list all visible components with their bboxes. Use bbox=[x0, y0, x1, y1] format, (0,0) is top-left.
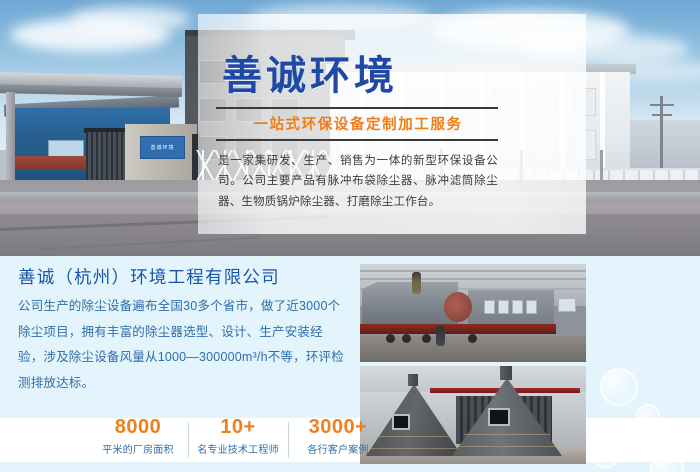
access-panel bbox=[498, 300, 509, 314]
inspection-hatch bbox=[488, 408, 510, 426]
hero-title: 善诚环境 bbox=[222, 54, 580, 99]
utility-pole-arm bbox=[652, 114, 672, 116]
hero-subtitle-block: 一站式环保设备定制加工服务 bbox=[216, 107, 498, 141]
access-panel bbox=[512, 300, 523, 314]
company-description: 公司生产的除尘设备遍布全国30多个省市，做了近3000个除尘项目，拥有丰富的除尘… bbox=[18, 294, 348, 397]
trailer-wheel bbox=[468, 334, 477, 343]
pyramid-hopper-right bbox=[452, 378, 562, 456]
weld-seam bbox=[456, 446, 558, 447]
promo-banner: 善诚环境 善诚环境 一站式环保设备定制加工服务 bbox=[0, 0, 700, 472]
factory-sign: 善诚环境 bbox=[140, 136, 185, 159]
utility-pole bbox=[660, 96, 663, 176]
truck-trailer-bed bbox=[360, 324, 556, 334]
stat-item-factory-area: 8000 平米的厂房面积 bbox=[88, 416, 188, 464]
hero-text-block: 善诚环境 一站式环保设备定制加工服务 是一家集研发、生产、销售为一体的新型环保设… bbox=[210, 22, 580, 212]
roof-truss bbox=[360, 278, 586, 280]
trailer-wheel bbox=[422, 334, 431, 343]
filter-housing-unit bbox=[468, 290, 554, 326]
hopper-outlet-stack bbox=[408, 374, 418, 386]
stats-row: 8000 平米的厂房面积 10+ 名专业技术工程师 3000+ 各行客户案例 bbox=[88, 416, 388, 464]
trailer-wheel bbox=[402, 334, 411, 343]
factory-sign-text: 善诚环境 bbox=[150, 144, 174, 151]
cloud-shape bbox=[70, 6, 190, 32]
hero-photo-section: 善诚环境 善诚环境 一站式环保设备定制加工服务 bbox=[0, 0, 700, 256]
divider-bottom bbox=[216, 139, 498, 141]
hero-description: 是一家集研发、生产、销售为一体的新型环保设备公司。公司主要产品有脉冲布袋除尘器、… bbox=[218, 151, 498, 212]
stat-label: 名专业技术工程师 bbox=[188, 441, 288, 456]
utility-pole-arm bbox=[650, 104, 674, 106]
company-info-section: 善诚（杭州）环境工程有限公司 公司生产的除尘设备遍布全国30多个省市，做了近30… bbox=[0, 256, 700, 472]
worker-standing bbox=[436, 326, 445, 346]
hopper-outlet-stack bbox=[500, 366, 512, 380]
worker-on-unit bbox=[412, 272, 421, 294]
canopy-support bbox=[6, 92, 15, 192]
access-panel bbox=[526, 300, 537, 314]
hero-subtitle: 一站式环保设备定制加工服务 bbox=[216, 109, 498, 139]
workshop-window bbox=[558, 298, 576, 312]
trailer-wheel bbox=[386, 334, 395, 343]
photo-pyramid-hopper-fabrication bbox=[360, 366, 586, 464]
stat-label: 各行客户案例 bbox=[288, 441, 388, 456]
roof-truss bbox=[360, 270, 586, 272]
inspection-hatch bbox=[392, 414, 410, 430]
stat-value: 3000+ bbox=[288, 416, 388, 438]
photo-dust-collector-on-truck bbox=[360, 264, 586, 362]
bubble-decoration bbox=[600, 368, 638, 406]
stat-item-customer-cases: 3000+ 各行客户案例 bbox=[288, 416, 388, 464]
stat-value: 8000 bbox=[88, 416, 188, 438]
stat-label: 平米的厂房面积 bbox=[88, 441, 188, 456]
weld-seam bbox=[464, 434, 550, 435]
company-name: 善诚（杭州）环境工程有限公司 bbox=[18, 264, 280, 289]
access-panel bbox=[484, 300, 495, 314]
stat-item-engineers: 10+ 名专业技术工程师 bbox=[188, 416, 288, 464]
fan-housing bbox=[444, 292, 472, 322]
stat-value: 10+ bbox=[188, 416, 288, 438]
